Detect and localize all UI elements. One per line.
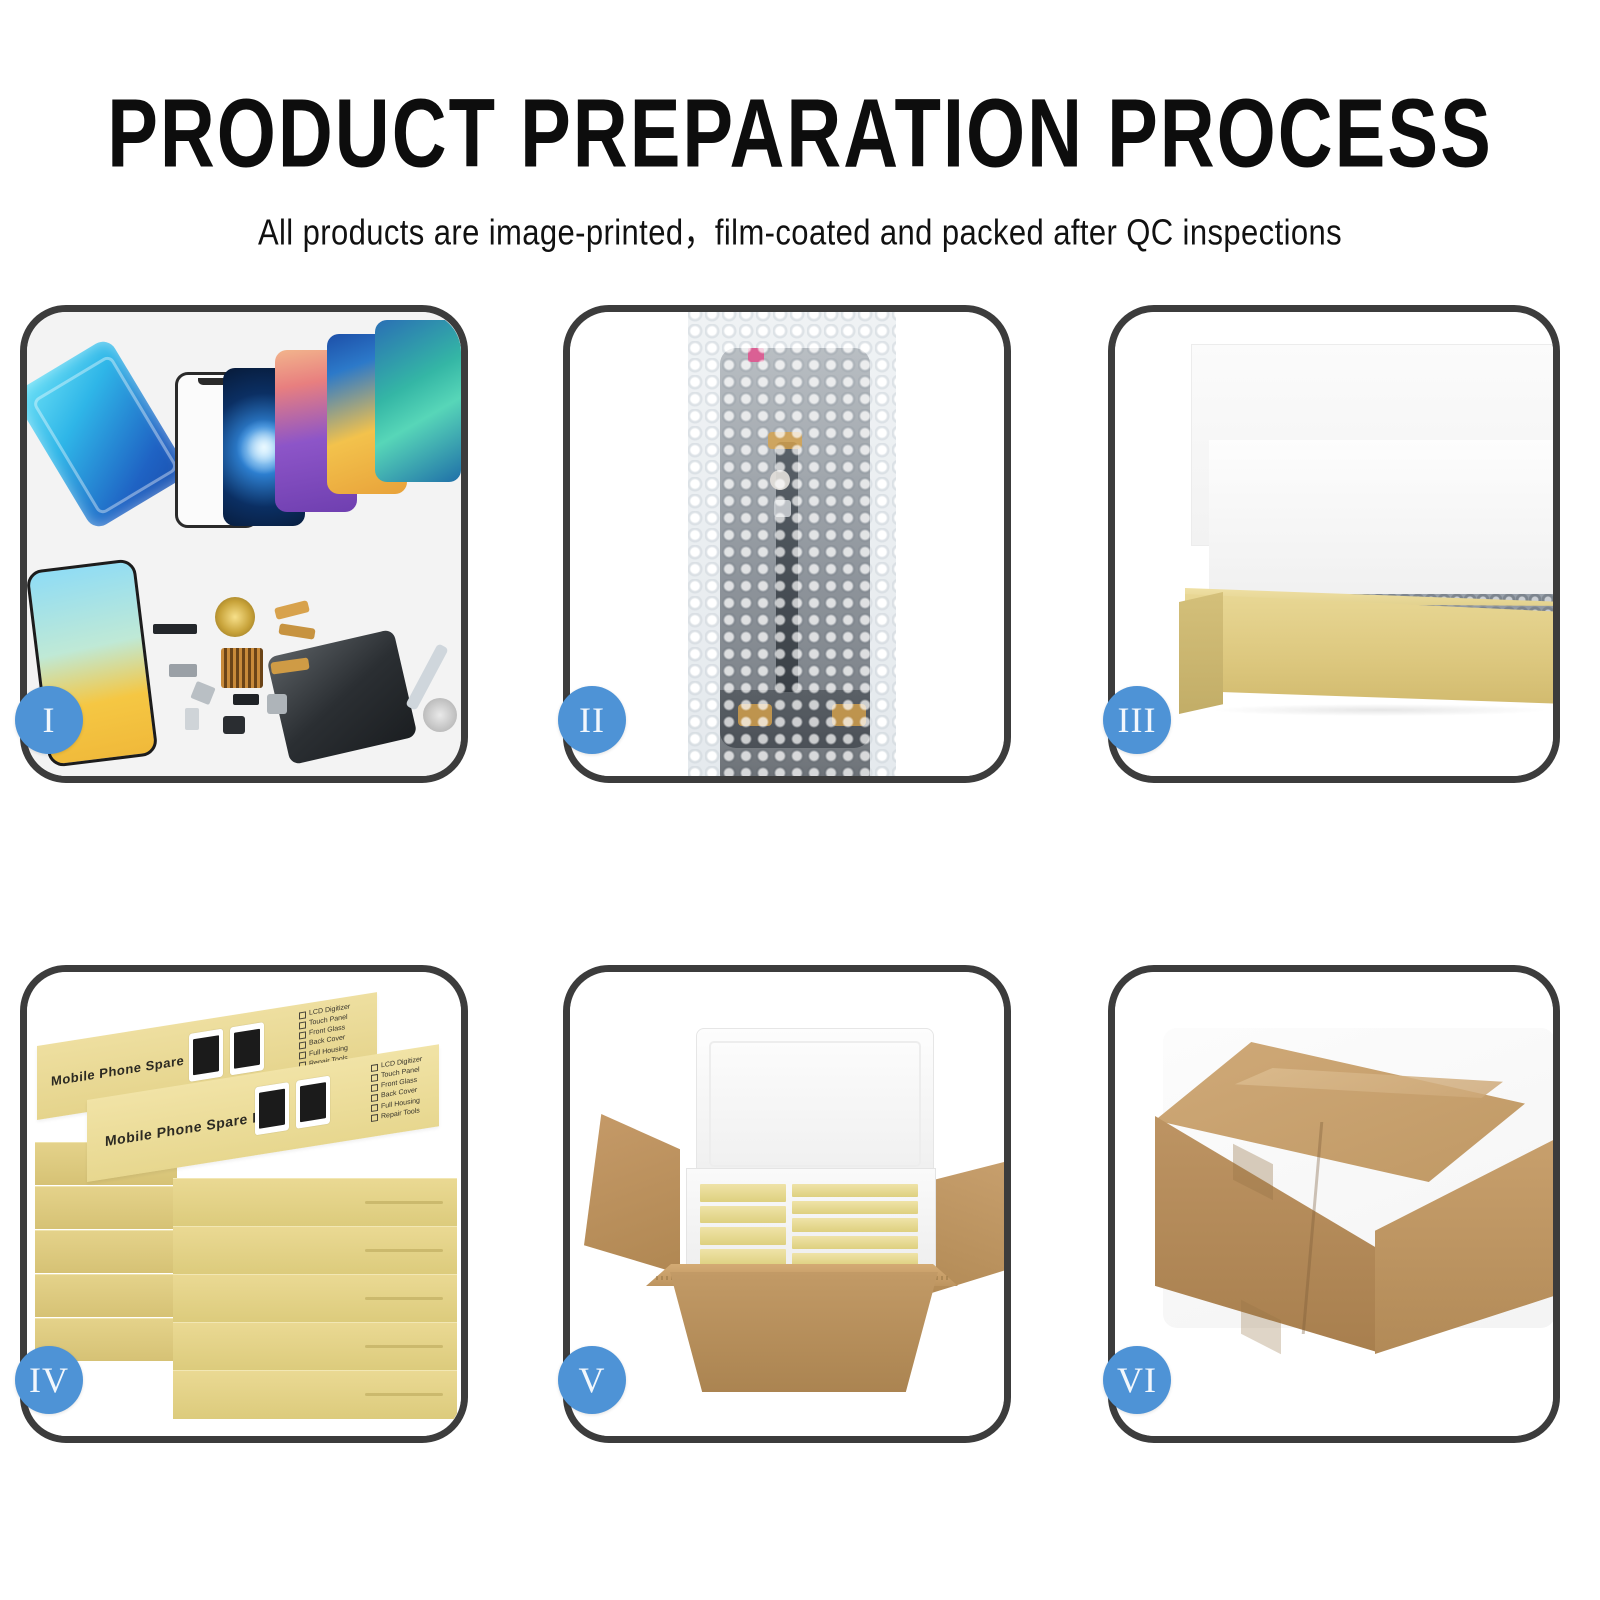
foam-cooler-lid	[696, 1028, 934, 1180]
step-badge-5: V	[558, 1346, 626, 1414]
checkbox-icon	[371, 1104, 378, 1112]
checkbox-icon	[371, 1074, 378, 1082]
retail-box-screens-front	[255, 1076, 330, 1136]
mailer-box-front	[1185, 594, 1553, 704]
stacked-box-left-2	[35, 1186, 177, 1229]
step-4-image: Mobile Phone Spare Parts LCD Digitizer T…	[27, 972, 461, 1436]
process-step-grid: I II	[0, 0, 1600, 1600]
step-panel-3[interactable]: III	[1108, 305, 1560, 783]
ic-chip-part	[221, 648, 263, 688]
step-3-image	[1115, 312, 1553, 776]
stacked-box-right-1	[173, 1178, 457, 1227]
stacked-box-right-4	[173, 1322, 457, 1371]
cleaning-brush-icon	[423, 698, 457, 732]
box-screen-thumb	[255, 1082, 289, 1135]
checkbox-icon	[299, 1041, 306, 1049]
small-component-3	[233, 694, 259, 705]
carton-flap-left	[584, 1114, 680, 1274]
gold-box-column-left	[700, 1184, 786, 1266]
gold-box-column-right	[792, 1184, 918, 1266]
wireless-charging-coil	[215, 597, 255, 637]
checkbox-icon	[371, 1084, 378, 1092]
checkbox-icon	[371, 1094, 378, 1102]
phone-teal-screen	[375, 320, 461, 482]
checkbox-icon	[299, 1021, 306, 1029]
adhesive-sticker-part	[27, 337, 190, 532]
step-panel-6[interactable]: VI	[1108, 965, 1560, 1443]
step-1-image	[27, 312, 461, 776]
step-panel-1[interactable]: I	[20, 305, 468, 783]
small-component-4	[267, 694, 287, 714]
mailer-box-shadow	[1215, 704, 1545, 716]
step-badge-1: I	[15, 686, 83, 754]
checkbox-icon	[299, 1011, 306, 1019]
step-6-image	[1115, 972, 1553, 1436]
earpiece-mesh-part	[153, 624, 197, 634]
step-panel-5[interactable]: V	[563, 965, 1011, 1443]
phone-back-housing	[266, 629, 417, 765]
step-2-image	[570, 312, 1004, 776]
box-stack-scene: Mobile Phone Spare Parts LCD Digitizer T…	[27, 972, 461, 1436]
carton-front-wall	[670, 1272, 938, 1392]
checkbox-icon	[371, 1063, 378, 1071]
retail-box-stack: Mobile Phone Spare Parts LCD Digitizer T…	[27, 972, 461, 1436]
small-component-2	[190, 681, 215, 705]
step-badge-3: III	[1103, 686, 1171, 754]
mailer-lid-front	[1209, 440, 1553, 600]
box-screen-thumb	[189, 1029, 223, 1082]
gold-boxes-inside	[700, 1184, 918, 1266]
box-screen-thumb	[296, 1076, 330, 1129]
mailer-box-side	[1179, 592, 1223, 714]
stacked-box-left-4	[35, 1274, 177, 1317]
flex-cable-part-a	[274, 600, 310, 620]
bubble-wrap-scene	[570, 312, 1004, 776]
checkbox-icon	[299, 1031, 306, 1039]
speaker-module-part	[223, 716, 245, 734]
flex-cable-part-b	[278, 623, 315, 639]
retail-box-checklist-front: LCD Digitizer Touch Panel Front Glass Ba…	[371, 1055, 422, 1124]
small-component-1	[169, 664, 197, 677]
step-panel-4[interactable]: Mobile Phone Spare Parts LCD Digitizer T…	[20, 965, 468, 1443]
sim-tray-part	[185, 708, 199, 730]
step-5-image	[570, 972, 1004, 1436]
step-badge-6: VI	[1103, 1346, 1171, 1414]
sealed-carton-scene	[1115, 972, 1553, 1436]
stacked-box-right-5	[173, 1370, 457, 1419]
step-badge-2: II	[558, 686, 626, 754]
checkbox-icon	[371, 1114, 378, 1122]
stacked-box-right-2	[173, 1226, 457, 1275]
phone-parts-collage	[27, 312, 461, 776]
stacked-box-left-3	[35, 1230, 177, 1273]
bubble-wrap-highlight	[688, 312, 896, 776]
inner-box-scene	[1115, 312, 1553, 776]
checkbox-icon	[299, 1052, 306, 1060]
foam-carton-scene	[570, 972, 1004, 1436]
stacked-box-right-3	[173, 1274, 457, 1323]
step-badge-4: IV	[15, 1346, 83, 1414]
box-screen-thumb	[230, 1022, 264, 1075]
step-panel-2[interactable]: II	[563, 305, 1011, 783]
